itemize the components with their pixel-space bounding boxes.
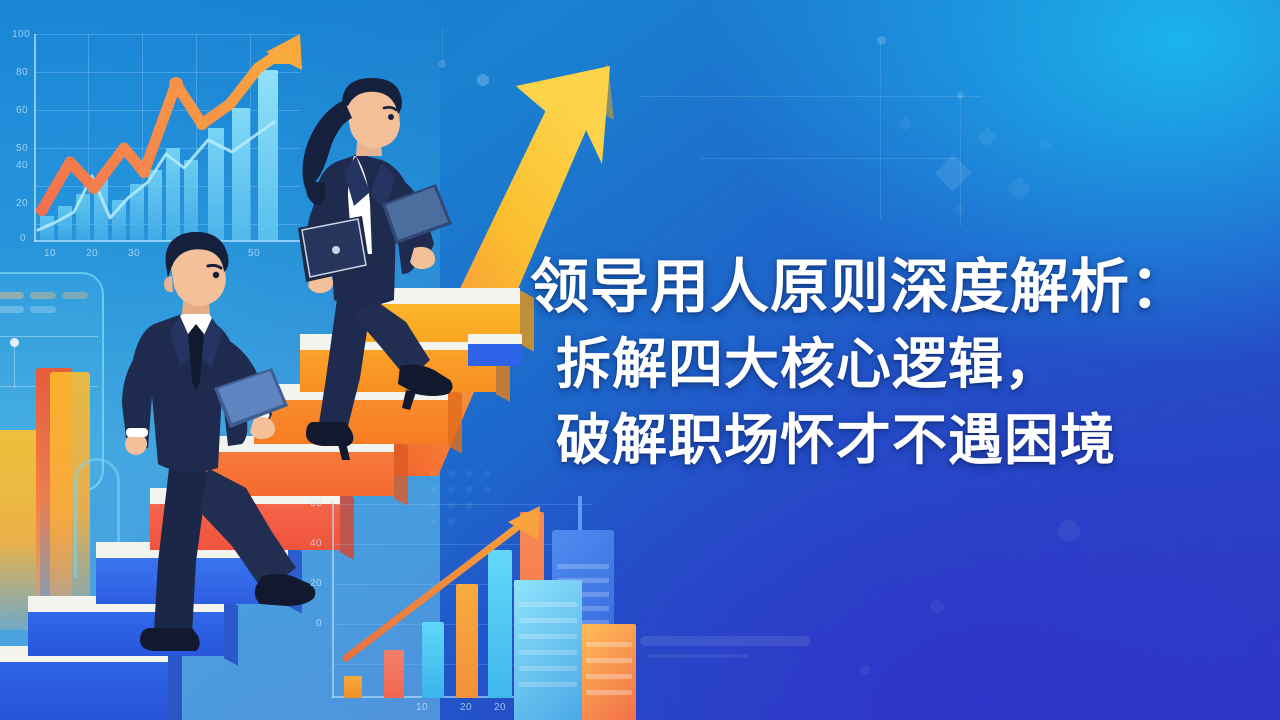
headline-line-3: 破解职场怀才不遇困境 [530,402,1250,478]
skyline-group [500,490,740,720]
businesswoman-climbing-stairs [284,78,514,468]
cyan-office-block [514,580,582,720]
headline-line-2: 拆解四大核心逻辑， [530,326,1250,402]
orange-office-block [582,624,636,720]
poster-canvas: 100 80 60 50 40 20 0 10 20 30 40 50 [0,0,1280,720]
dot-matrix-decor [430,470,520,534]
headline-line-1: 领导用人原则深度解析： [530,248,1250,326]
headline-block: 领导用人原则深度解析： 拆解四大核心逻辑， 破解职场怀才不遇困境 [530,248,1250,478]
